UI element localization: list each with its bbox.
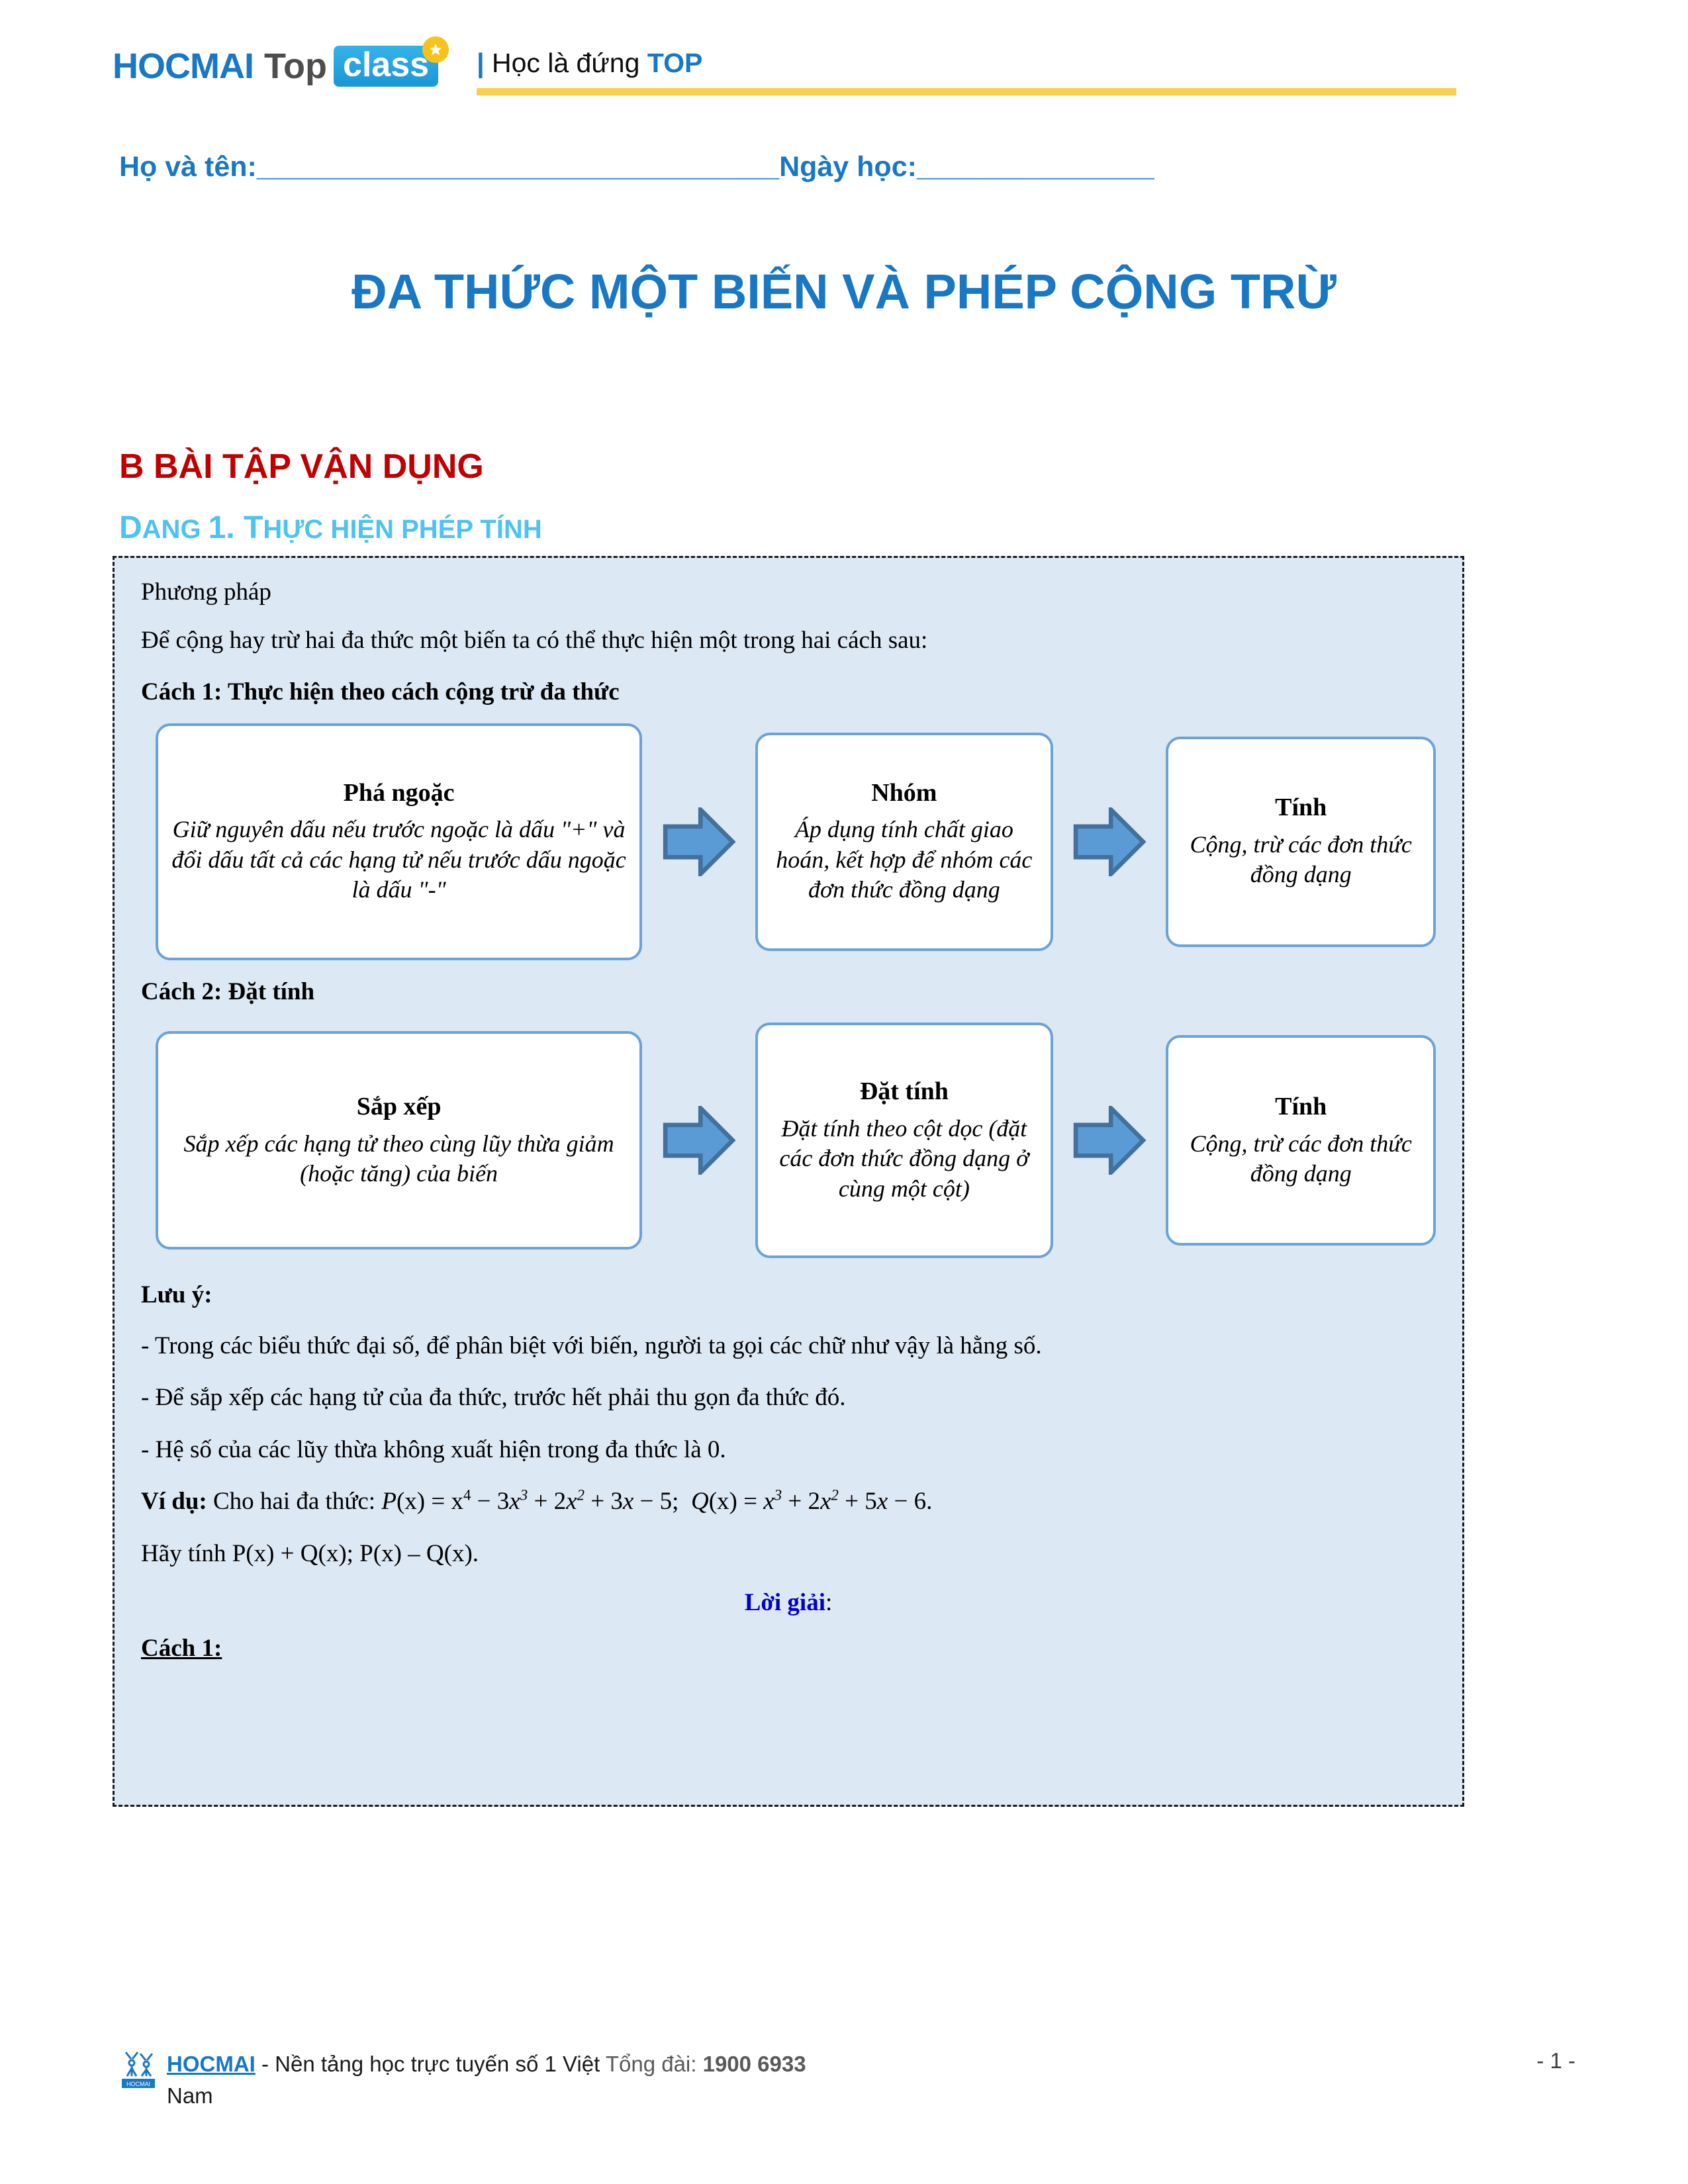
flow-arrow-2 xyxy=(1053,807,1166,876)
note-item-2: - Để sắp xếp các hạng tử của đa thức, tr… xyxy=(141,1381,1436,1416)
svg-text:HOCMAI: HOCMAI xyxy=(126,2081,150,2087)
hocmai-mark-icon: HOCMAI xyxy=(119,2048,158,2091)
footer-hotline-number: 1900 6933 xyxy=(703,2052,806,2076)
method-intro: Để cộng hay trừ hai đa thức một biến ta … xyxy=(141,623,1436,659)
flow-card-title: Nhóm xyxy=(871,778,937,809)
polynomial-p-expression: P xyxy=(381,1488,397,1515)
vi-du-lead: Cho hai đa thức: xyxy=(207,1488,382,1515)
flow-card-title: Tính xyxy=(1275,1092,1327,1122)
method-callout-box: Phương pháp Để cộng hay trừ hai đa thức … xyxy=(113,556,1464,1807)
footer-text: HOCMAI - Nền tảng học trực tuyến số 1 Vi… xyxy=(167,2048,1517,2112)
dang-letter-d: D xyxy=(119,510,142,545)
student-name-blank[interactable]: _________________________________ xyxy=(257,151,779,183)
hay-tinh-line: Hãy tính P(x) + Q(x); P(x) – Q(x). xyxy=(141,1537,1436,1572)
study-date-label: Ngày học: xyxy=(779,151,917,183)
hocmai-topclass-logo: HOCMAI Top class xyxy=(113,38,438,94)
section-heading-dang-1: DANG 1. THỰC HIỆN PHÉP TÍNH xyxy=(119,510,542,546)
tagline-top-word: TOP xyxy=(647,48,703,78)
loi-giai-text: Lời giải xyxy=(745,1589,825,1616)
star-badge-icon xyxy=(422,36,449,63)
flow-card-body: Đặt tính theo cột dọc (đặt các đơn thức … xyxy=(770,1114,1038,1204)
loi-giai-colon: : xyxy=(825,1589,832,1616)
note-item-1: - Trong các biểu thức đại số, để phân bi… xyxy=(141,1329,1436,1364)
footer-row: HOCMAI HOCMAI - Nền tảng học trực tuyến … xyxy=(119,2048,1575,2112)
document-page: HOCMAI Top class | Học là đứng TOP Họ và… xyxy=(0,0,1688,2184)
logo-class-wrap: class xyxy=(334,46,438,87)
flow-card-pha-ngoac: Phá ngoặc Giữ nguyên dấu nếu trước ngoặc… xyxy=(156,723,642,960)
flow-card-body: Áp dụng tính chất giao hoán, kết hợp để … xyxy=(770,815,1038,905)
formula-end: . xyxy=(926,1488,932,1515)
flow-card-sap-xep: Sắp xếp Sắp xếp các hạng tử theo cùng lũ… xyxy=(156,1031,642,1250)
flow-card-title: Sắp xếp xyxy=(357,1092,442,1122)
footer-hotline-label: Tổng đài: xyxy=(606,2052,697,2076)
flow-card-tinh-2: Tính Cộng, trừ các đơn thức đồng dạng xyxy=(1166,1035,1436,1246)
logo-hocmai-text: HOCMAI xyxy=(113,48,254,84)
formula-separator: ; xyxy=(672,1488,679,1515)
polynomial-q-expression: Q xyxy=(691,1488,709,1515)
vi-du-line: Ví dụ: Cho hai đa thức: P(x) = x4 − 3x3 … xyxy=(141,1484,1436,1520)
name-date-line: Họ và tên:______________________________… xyxy=(119,151,1575,183)
flow-diagram-row-2: Sắp xếp Sắp xếp các hạng tử theo cùng lũ… xyxy=(141,1023,1436,1258)
flow-card-tinh-1: Tính Cộng, trừ các đơn thức đồng dạng xyxy=(1166,737,1436,947)
tagline: | Học là đứng TOP xyxy=(477,48,1575,79)
flow-arrow-4 xyxy=(1053,1106,1166,1175)
vi-du-label: Ví dụ: xyxy=(141,1488,207,1515)
student-name-label: Họ và tên: xyxy=(119,151,257,183)
flow-card-body: Giữ nguyên dấu nếu trước ngoặc là dấu "+… xyxy=(170,815,628,905)
flow-card-body: Sắp xếp các hạng tử theo cùng lũy thừa g… xyxy=(170,1129,628,1189)
luu-y-label: Lưu ý: xyxy=(141,1278,1436,1313)
page-number: - 1 - xyxy=(1517,2048,1575,2073)
method-heading: Phương pháp xyxy=(141,575,1436,610)
right-arrow-icon xyxy=(662,1106,736,1175)
page-header: HOCMAI Top class | Học là đứng TOP xyxy=(113,38,1575,118)
note-item-3: - Hệ số của các lũy thừa không xuất hiện… xyxy=(141,1433,1436,1468)
right-arrow-icon xyxy=(1072,1106,1147,1175)
tagline-block: | Học là đứng TOP xyxy=(477,38,1575,95)
tagline-bar: | xyxy=(477,48,484,78)
study-date-blank[interactable]: _______________ xyxy=(917,151,1154,183)
flow-card-nhom: Nhóm Áp dụng tính chất giao hoán, kết hợ… xyxy=(755,733,1053,951)
flow-card-title: Phá ngoặc xyxy=(344,778,455,809)
flow-card-title: Đặt tính xyxy=(860,1077,949,1107)
tagline-text: Học là đứng xyxy=(485,48,647,78)
cach-2-label: Cách 2: Đặt tính xyxy=(141,975,1436,1010)
flow-card-title: Tính xyxy=(1275,793,1327,823)
right-arrow-icon xyxy=(662,807,736,876)
flow-diagram-row-1: Phá ngoặc Giữ nguyên dấu nếu trước ngoặc… xyxy=(141,723,1436,960)
footer-tagline-wrap: Nam xyxy=(167,2080,1517,2112)
flow-card-body: Cộng, trừ các đơn thức đồng dạng xyxy=(1180,830,1421,890)
page-title: ĐA THỨC MỘT BIẾN VÀ PHÉP CỘNG TRỪ xyxy=(113,263,1575,320)
flow-arrow-3 xyxy=(642,1106,755,1175)
footer-tagline: - Nền tảng học trực tuyến số 1 Việt xyxy=(256,2052,606,2076)
flow-arrow-1 xyxy=(642,807,755,876)
dang-tail: HỰC HIỆN PHÉP TÍNH xyxy=(263,515,541,544)
section-heading-part-b: B BÀI TẬP VẬN DỤNG xyxy=(119,447,484,486)
dang-word-ang: ANG xyxy=(142,515,209,544)
cach-1-label: Cách 1: Thực hiện theo cách cộng trừ đa … xyxy=(141,675,1436,710)
flow-card-dat-tinh: Đặt tính Đặt tính theo cột dọc (đặt các … xyxy=(755,1023,1053,1258)
loi-giai-heading: Lời giải: xyxy=(141,1588,1436,1617)
dang-number: 1. T xyxy=(209,510,263,545)
logo-top-text: Top xyxy=(264,48,327,84)
page-footer: HOCMAI HOCMAI - Nền tảng học trực tuyến … xyxy=(119,2048,1575,2112)
footer-brand[interactable]: HOCMAI xyxy=(167,2052,256,2076)
tagline-underline-rule xyxy=(477,88,1456,95)
flow-card-body: Cộng, trừ các đơn thức đồng dạng xyxy=(1180,1129,1421,1189)
cach-1-solution-label: Cách 1: xyxy=(141,1634,1436,1662)
right-arrow-icon xyxy=(1072,807,1147,876)
